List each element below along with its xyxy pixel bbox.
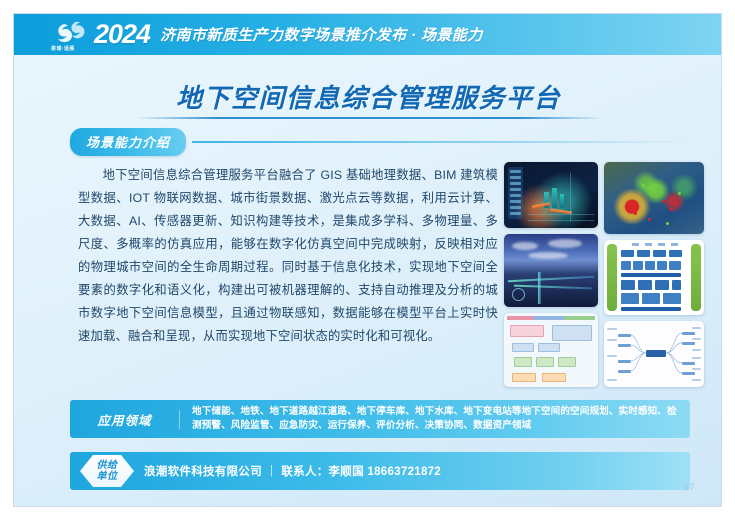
application-domain-label: 应用领域 [70,410,180,429]
gallery-image-heatmap-aerial-view[interactable] [604,162,704,234]
page-title: 地下空间信息综合管理服务平台 [14,78,722,115]
diagram-color-legend [507,316,595,320]
supplier-divider: | [270,465,273,477]
supplier-band: 供给 单位 浪潮软件科技有限公司 | 联系人：李顺国 18663721872 [70,452,690,490]
image-gallery [504,162,704,387]
scene-building [560,194,564,208]
section-rule [192,141,690,143]
gallery-image-road-night-scene[interactable] [504,234,598,307]
title-underline [134,117,604,119]
diagram-legend [632,243,678,246]
gallery-image-underground-3d-scene[interactable] [504,162,598,228]
supplier-info: 浪潮软件科技有限公司 | 联系人：李顺国 18663721872 [144,463,441,479]
supplier-badge-line2: 单位 [97,471,118,482]
scene-building [552,188,557,208]
supplier-badge-line1: 供给 [97,460,118,471]
section-header: 场景能力介绍 [70,128,690,156]
scene-compass-icon [512,288,525,301]
supplier-badge: 供给 单位 [70,452,144,490]
slide-page: 泉城·话展 2024 济南市新质生产力数字场景推介发布 · 场景能力 地下空间信… [0,0,735,520]
application-domain-text: 地下储能、地铁、地下道路越江道路、地下停车库、地下水库、地下变电站等地下空间的空… [180,405,690,433]
swan-logo-icon: 泉城·话展 [50,19,92,51]
header-title: 济南市新质生产力数字场景推介发布 · 场景能力 [160,24,483,45]
supplier-company-name: 浪潮软件科技有限公司 [144,463,262,479]
scene-sidebar-panel [508,167,523,219]
gallery-image-data-flow-diagram[interactable] [504,313,598,387]
diagram-left-rail [607,244,617,311]
capability-paragraph: 地下空间信息综合管理服务平台融合了 GIS 基础地理数据、BIM 建筑模型数据、… [78,164,498,348]
gallery-image-mindmap-diagram[interactable] [604,321,704,387]
section-label-capability: 场景能力介绍 [70,128,186,156]
page-body: 泉城·话展 2024 济南市新质生产力数字场景推介发布 · 场景能力 地下空间信… [13,13,722,507]
supplier-contact: 联系人：李顺国 18663721872 [281,463,441,479]
supplier-badge-text: 供给 单位 [97,460,118,482]
header-bar: 泉城·话展 2024 济南市新质生产力数字场景推介发布 · 场景能力 [14,14,722,55]
event-logo: 泉城·话展 2024 [50,19,150,51]
gallery-image-architecture-diagram[interactable] [604,240,704,315]
page-number: 17 [684,482,695,492]
diagram-right-rail [691,244,701,311]
mindmap-root-node [646,350,666,357]
application-domain-band: 应用领域 地下储能、地铁、地下道路越江道路、地下停车库、地下水库、地下变电站等地… [70,400,690,438]
logo-subtitle: 泉城·话展 [51,45,75,52]
hexagon-icon: 供给 单位 [80,455,134,487]
logo-year: 2024 [94,19,150,50]
